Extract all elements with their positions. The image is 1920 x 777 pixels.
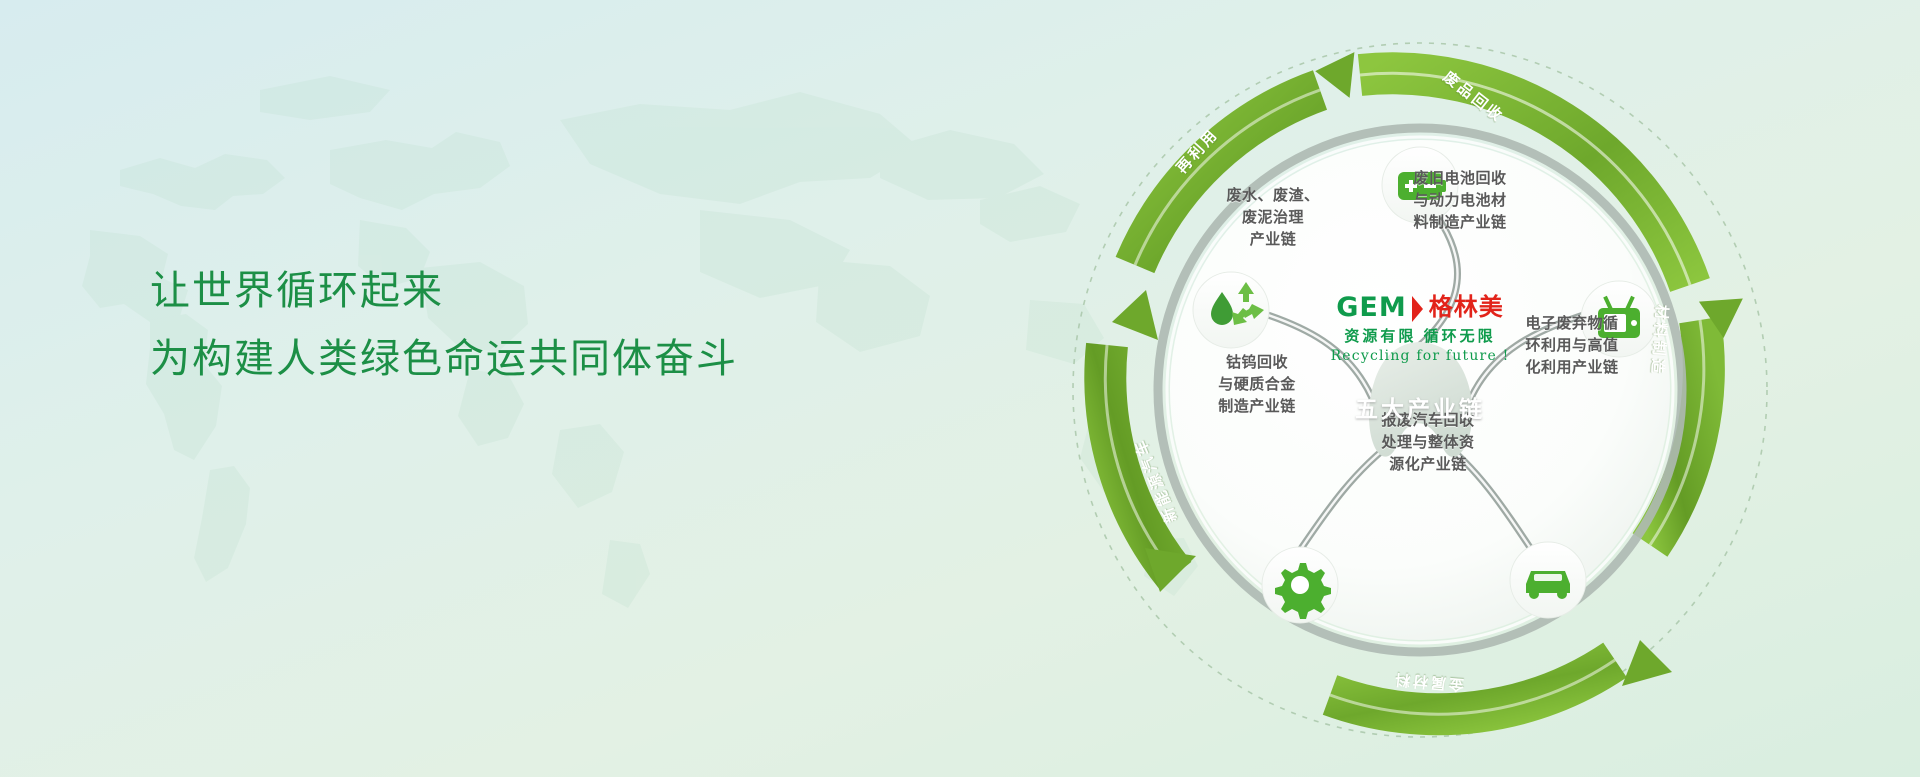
diagram-center-caption: 五大产业链 (1305, 390, 1535, 424)
five-industry-chain-diagram: 废水、废渣、 废泥治理 产业链 废旧电池回收 与动力电池材 料制造产业链 电子废… (1000, 0, 1920, 777)
recycle-drop-icon-badge (1193, 272, 1269, 348)
gem-brand-latin: GEM (1336, 294, 1406, 321)
headline-line-2: 为构建人类绿色命运共同体奋斗 (150, 330, 910, 388)
gem-tagline-en: Recycling for future ! (1305, 348, 1535, 364)
gem-brand-cn: 格林美 (1429, 296, 1504, 320)
gem-logo-row: GEM 格林美 (1305, 294, 1535, 321)
banner-headline: 让世界循环起来 为构建人类绿色命运共同体奋斗 (150, 262, 910, 388)
car-icon-badge (1510, 542, 1586, 618)
headline-line-1: 让世界循环起来 (150, 262, 910, 320)
gem-red-triangle-icon (1412, 296, 1423, 322)
gem-logo: GEM 格林美 资源有限 循环无限 Recycling for future !… (1305, 294, 1535, 424)
segment-label-wastewater: 废水、废渣、 废泥治理 产业链 (1198, 185, 1348, 250)
segment-label-battery: 废旧电池回收 与动力电池材 料制造产业链 (1380, 168, 1540, 233)
gear-icon-badge (1262, 547, 1338, 623)
gem-tagline-cn: 资源有限 循环无限 (1305, 325, 1535, 346)
